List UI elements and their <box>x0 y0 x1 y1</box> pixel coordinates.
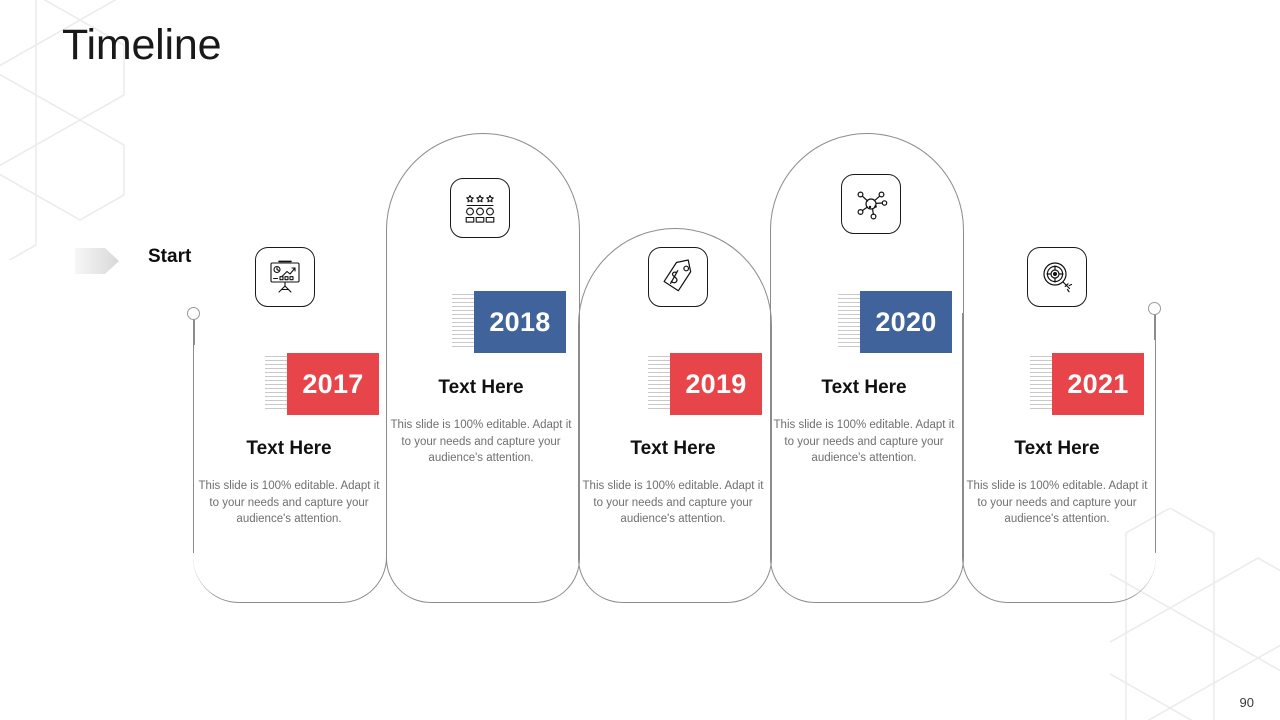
year-badge-2018[interactable]: 2018 <box>452 291 566 353</box>
milestone-heading: Text Here <box>962 438 1152 460</box>
year-label: 2017 <box>287 353 379 415</box>
year-label: 2021 <box>1052 353 1144 415</box>
badge-stripes <box>838 294 860 350</box>
milestone-body: This slide is 100% editable. Adapt it to… <box>578 478 768 528</box>
start-chevron-icon <box>75 245 119 277</box>
badge-stripes <box>648 356 670 412</box>
target-search-icon <box>1036 256 1078 298</box>
presentation-chart-icon <box>264 256 306 298</box>
year-label: 2019 <box>670 353 762 415</box>
milestone-text-2020: Text Here This slide is 100% editable. A… <box>769 377 959 467</box>
badge-stripes <box>265 356 287 412</box>
network-hub-icon <box>850 183 892 225</box>
milestone-heading: Text Here <box>578 438 768 460</box>
milestone-heading: Text Here <box>386 377 576 399</box>
year-label: 2020 <box>860 291 952 353</box>
milestone-heading: Text Here <box>769 377 959 399</box>
price-tag-icon <box>657 256 699 298</box>
milestone-body: This slide is 100% editable. Adapt it to… <box>194 478 384 528</box>
milestone-icon-2020-network-hub-icon[interactable] <box>841 174 901 234</box>
milestone-icon-2017-presentation-chart-icon[interactable] <box>255 247 315 307</box>
milestone-icon-2021-target-search-icon[interactable] <box>1027 247 1087 307</box>
timeline-start-endpoint <box>187 307 200 320</box>
start-label: Start <box>148 246 191 268</box>
timeline-end-endpoint <box>1148 302 1161 315</box>
year-badge-2019[interactable]: 2019 <box>648 353 762 415</box>
year-label: 2018 <box>474 291 566 353</box>
team-rating-icon <box>459 187 501 229</box>
milestone-heading: Text Here <box>194 438 384 460</box>
page-number: 90 <box>1240 695 1254 710</box>
year-badge-2020[interactable]: 2020 <box>838 291 952 353</box>
milestone-body: This slide is 100% editable. Adapt it to… <box>962 478 1152 528</box>
milestone-text-2017: Text Here This slide is 100% editable. A… <box>194 438 384 528</box>
milestone-text-2018: Text Here This slide is 100% editable. A… <box>386 377 576 467</box>
milestone-text-2019: Text Here This slide is 100% editable. A… <box>578 438 768 528</box>
milestone-icon-2018-team-rating-icon[interactable] <box>450 178 510 238</box>
badge-stripes <box>452 294 474 350</box>
year-badge-2017[interactable]: 2017 <box>265 353 379 415</box>
page-title: Timeline <box>62 22 221 69</box>
timeline-pill-2021-right-edge <box>1155 313 1156 553</box>
year-badge-2021[interactable]: 2021 <box>1030 353 1144 415</box>
milestone-icon-2019-price-tag-icon[interactable] <box>648 247 708 307</box>
milestone-body: This slide is 100% editable. Adapt it to… <box>769 417 959 467</box>
milestone-text-2021: Text Here This slide is 100% editable. A… <box>962 438 1152 528</box>
badge-stripes <box>1030 356 1052 412</box>
milestone-body: This slide is 100% editable. Adapt it to… <box>386 417 576 467</box>
